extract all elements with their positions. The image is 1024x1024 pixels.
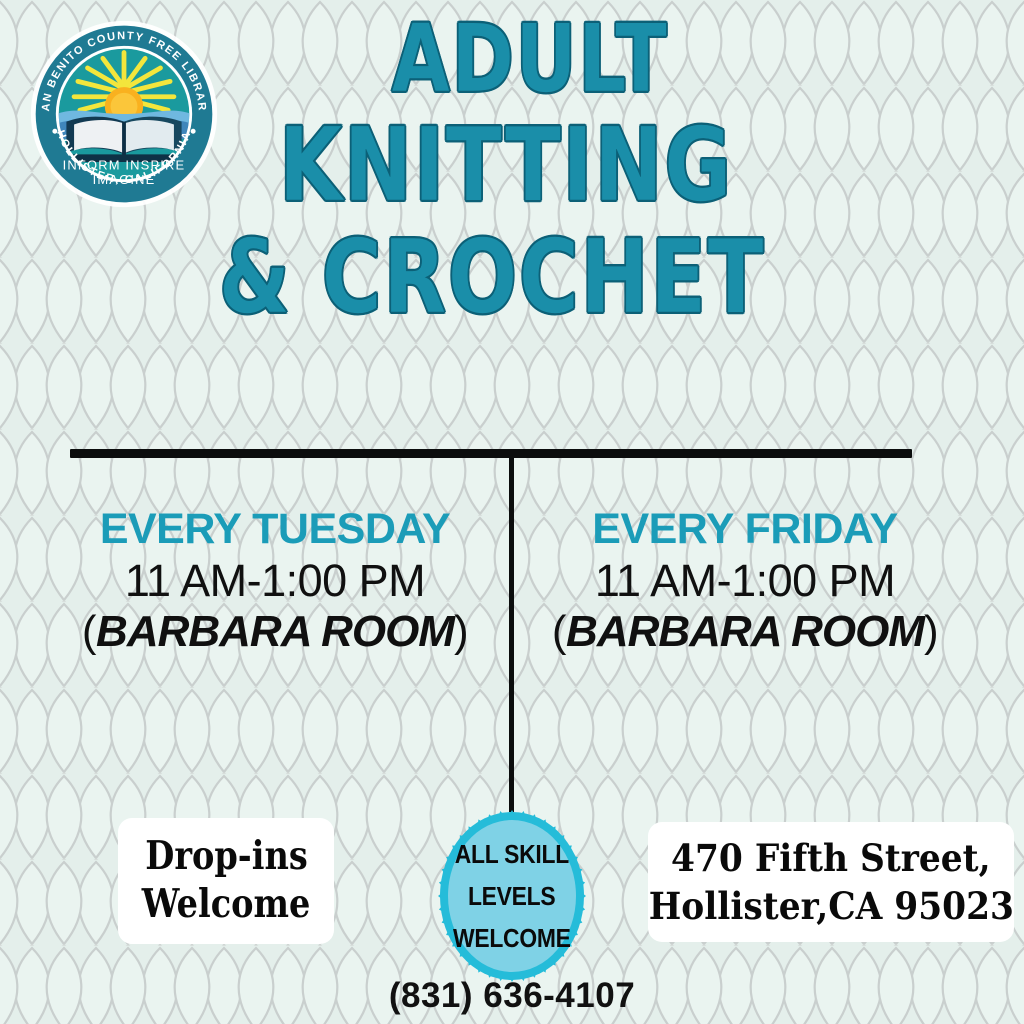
poster-title: ADULT KNITTING & CROCHET	[150, 14, 850, 328]
schedule-day-tuesday: EVERY TUESDAY	[60, 508, 490, 551]
schedule-column-tuesday: EVERY TUESDAY 11 AM-1:00 PM (BARBARA ROO…	[60, 508, 490, 656]
room-close-paren-tuesday: )	[454, 607, 468, 656]
title-line-2: KNITTING	[231, 116, 781, 216]
dropins-line-1: Drop-ins	[145, 833, 308, 881]
address-box: 470 Fifth Street, Hollister,CA 95023	[648, 822, 1014, 942]
dropins-line-2: Welcome	[142, 881, 311, 929]
all-skill-levels-badge: ALL SKILL LEVELS WELCOME	[428, 800, 596, 992]
title-line-3: & CROCHET	[206, 228, 779, 328]
room-open-paren-friday: (	[552, 607, 566, 656]
room-name-tuesday: BARBARA ROOM	[96, 607, 454, 656]
schedule-column-friday: EVERY FRIDAY 11 AM-1:00 PM (BARBARA ROOM…	[530, 508, 960, 656]
horizontal-divider	[70, 449, 912, 458]
schedule-time-tuesday: 11 AM-1:00 PM	[60, 555, 490, 607]
library-logo: INFORM INSPIRE IMAGINE SAN BENITO COUNTY…	[28, 18, 220, 210]
schedule-time-friday: 11 AM-1:00 PM	[530, 555, 960, 607]
room-close-paren-friday: )	[924, 607, 938, 656]
library-seal-svg: INFORM INSPIRE IMAGINE SAN BENITO COUNTY…	[28, 18, 220, 210]
title-line-1: ADULT	[274, 14, 786, 106]
address-line-1: 470 Fifth Street,	[671, 834, 991, 882]
badge-starburst-svg	[428, 800, 596, 992]
address-line-2: Hollister,CA 95023	[648, 882, 1013, 930]
room-open-paren-tuesday: (	[82, 607, 96, 656]
schedule-day-friday: EVERY FRIDAY	[530, 508, 960, 551]
vertical-divider	[509, 456, 514, 812]
schedule-room-friday: (BARBARA ROOM)	[530, 607, 960, 656]
dropins-welcome-box: Drop-ins Welcome	[118, 818, 334, 944]
room-name-friday: BARBARA ROOM	[566, 607, 924, 656]
poster-canvas: INFORM INSPIRE IMAGINE SAN BENITO COUNTY…	[0, 0, 1024, 1024]
schedule-room-tuesday: (BARBARA ROOM)	[60, 607, 490, 656]
